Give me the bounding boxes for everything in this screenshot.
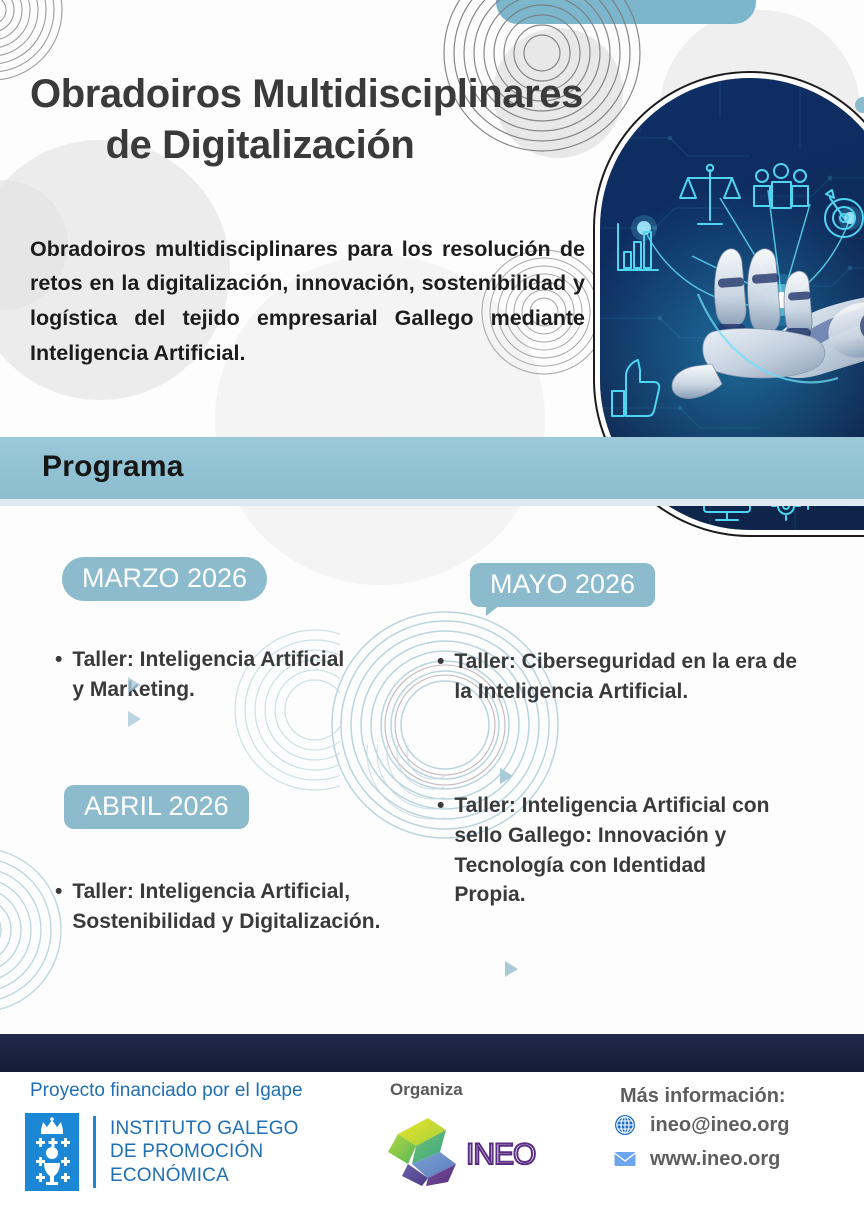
funding-text: Proyecto financiado por el Igape	[30, 1080, 303, 1102]
decor-rings-abril	[315, 745, 445, 865]
program-item-text: Taller: Inteligencia Artificial con sell…	[454, 791, 777, 910]
decor-triangle-4	[128, 711, 141, 727]
ineo-wordmark: INEO	[466, 1138, 535, 1171]
poster-canvas: Obradoiros Multidisciplinares de Digital…	[0, 0, 864, 1210]
envelope-icon	[613, 1147, 637, 1171]
page-title-line2: de Digitalización	[30, 120, 600, 171]
page-title: Obradoiros Multidisciplinares de Digital…	[30, 69, 600, 171]
globe-icon	[613, 1113, 637, 1137]
decor-rings-right-mid	[120, 610, 340, 810]
program-item-mayo-1: • Taller: Ciberseguridad en la era de la…	[437, 647, 807, 707]
intro-paragraph: Obradoiros multidisciplinares para los r…	[30, 232, 585, 371]
footer-divider-bar	[0, 1032, 864, 1074]
ineo-logo: INEO	[378, 1108, 538, 1188]
xunta-galicia-logo: INSTITUTO GALEGO DE PROMOCIÓN ECONÓMICA	[25, 1113, 299, 1191]
more-info-label: Más información:	[620, 1086, 786, 1106]
program-item-text: Taller: Inteligencia Artificial y Market…	[72, 645, 345, 705]
bullet-dot-icon: •	[437, 791, 444, 821]
badge-mayo-label: MAYO 2026	[490, 569, 635, 599]
contact-row-website[interactable]: www.ineo.org	[613, 1147, 780, 1171]
decor-triangle-1	[500, 768, 513, 784]
website-value: www.ineo.org	[650, 1148, 780, 1171]
page-title-line1: Obradoiros Multidisciplinares	[30, 69, 600, 120]
program-item-abril-1: • Taller: Inteligencia Artificial, Soste…	[55, 877, 445, 937]
program-item-text: Taller: Inteligencia Artificial, Sosteni…	[72, 877, 445, 937]
email-value: ineo@ineo.org	[650, 1114, 790, 1137]
badge-marzo-2026: MARZO 2026	[62, 557, 267, 601]
xunta-de-galicia-coat-of-arms	[25, 1113, 79, 1191]
logo-divider	[93, 1116, 96, 1188]
contact-row-email[interactable]: ineo@ineo.org	[613, 1113, 790, 1137]
program-item-marzo-1: • Taller: Inteligencia Artificial y Mark…	[55, 645, 345, 705]
bullet-dot-icon: •	[437, 647, 444, 677]
decor-triangle-3	[128, 677, 141, 693]
bullet-dot-icon: •	[55, 645, 62, 675]
program-item-mayo-2: • Taller: Inteligencia Artificial con se…	[437, 791, 777, 910]
speech-bubble-tail-icon	[486, 605, 500, 616]
program-item-text: Taller: Ciberseguridad en la era de la I…	[454, 647, 807, 707]
decor-triangle-2	[505, 961, 518, 977]
bullet-dot-icon: •	[55, 877, 62, 907]
institute-name: INSTITUTO GALEGO DE PROMOCIÓN ECONÓMICA	[110, 1117, 299, 1187]
programa-heading: Programa	[42, 450, 184, 484]
badge-mayo-2026: MAYO 2026	[470, 563, 655, 607]
ineo-mark-icon	[388, 1118, 456, 1186]
organiza-label: Organiza	[390, 1080, 463, 1100]
badge-abril-2026: ABRIL 2026	[64, 785, 249, 829]
decor-blue-bar-top	[496, 0, 756, 24]
